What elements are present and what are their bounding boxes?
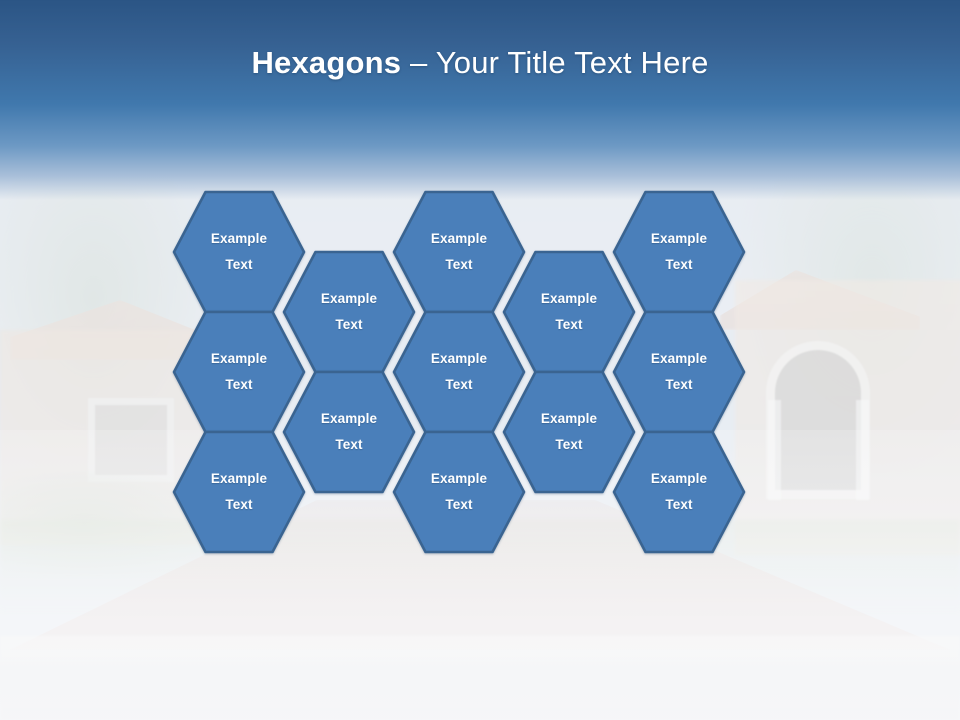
hexagon-label: ExampleText: [651, 226, 707, 279]
hexagon-label-line1: Example: [211, 351, 267, 366]
hexagon-label-line1: Example: [431, 351, 487, 366]
hexagon-label-line1: Example: [651, 351, 707, 366]
hexagon-label-line2: Text: [445, 377, 472, 392]
hexagon-label: ExampleText: [541, 286, 597, 339]
hexagon-label-line2: Text: [665, 497, 692, 512]
hexagon-label-line2: Text: [335, 317, 362, 332]
hexagon-label-line1: Example: [651, 231, 707, 246]
hexagon-label: ExampleText: [321, 286, 377, 339]
hexagon-label-line2: Text: [445, 497, 472, 512]
hexagon-label: ExampleText: [211, 346, 267, 399]
hexagon-label-line1: Example: [541, 291, 597, 306]
hexagon-label-line1: Example: [431, 231, 487, 246]
hexagon-label-line1: Example: [541, 411, 597, 426]
hexagon-label: ExampleText: [431, 346, 487, 399]
hex-c5-r3[interactable]: ExampleText: [612, 430, 746, 554]
hexagon-label-line1: Example: [321, 411, 377, 426]
hexagon-label: ExampleText: [651, 466, 707, 519]
hexagon-label-line2: Text: [665, 257, 692, 272]
hexagon-label-line2: Text: [225, 497, 252, 512]
hex-c5-r2[interactable]: ExampleText: [612, 310, 746, 434]
hexagon-label-line1: Example: [651, 471, 707, 486]
slide: Hexagons – Your Title Text Here ExampleT…: [0, 0, 960, 720]
hexagon-label: ExampleText: [431, 226, 487, 279]
hex-c5-r1[interactable]: ExampleText: [612, 190, 746, 314]
hexagon-label-line2: Text: [225, 257, 252, 272]
hexagon-label-line2: Text: [555, 437, 582, 452]
hexagon-label-line2: Text: [665, 377, 692, 392]
hexagon-label-line1: Example: [211, 231, 267, 246]
hexagon-label: ExampleText: [211, 466, 267, 519]
hexagon-label: ExampleText: [431, 466, 487, 519]
hexagon-diagram: ExampleTextExampleTextExampleTextExample…: [0, 0, 960, 720]
hexagon-label-line2: Text: [445, 257, 472, 272]
hexagon-label-line2: Text: [555, 317, 582, 332]
hexagon-label: ExampleText: [541, 406, 597, 459]
hexagon-label-line1: Example: [431, 471, 487, 486]
hexagon-label-line1: Example: [211, 471, 267, 486]
hexagon-label: ExampleText: [211, 226, 267, 279]
hexagon-label-line1: Example: [321, 291, 377, 306]
hexagon-label: ExampleText: [651, 346, 707, 399]
hexagon-label: ExampleText: [321, 406, 377, 459]
hexagon-label-line2: Text: [225, 377, 252, 392]
hexagon-label-line2: Text: [335, 437, 362, 452]
